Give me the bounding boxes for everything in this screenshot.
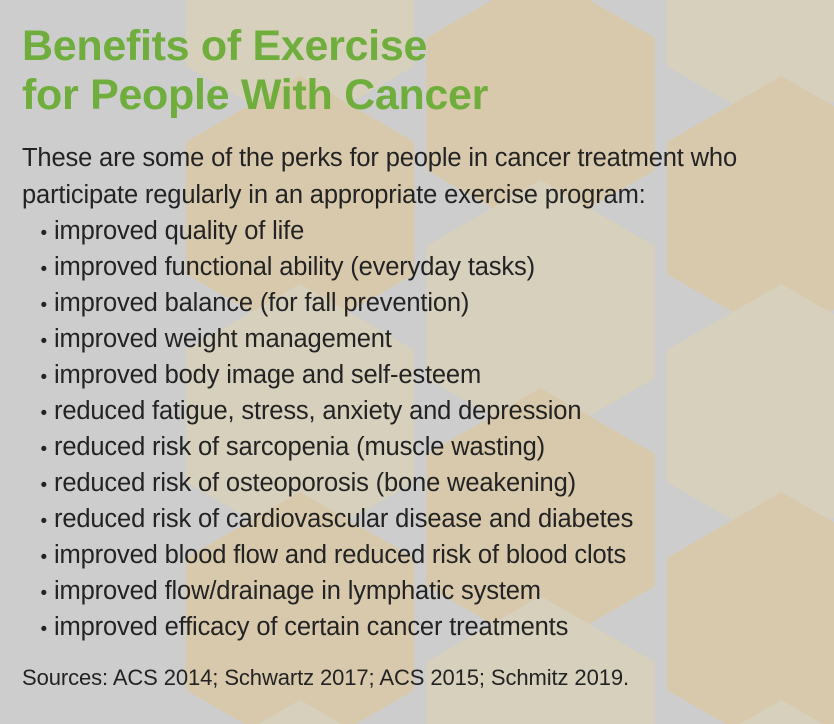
- benefit-item: •improved blood flow and reduced risk of…: [22, 537, 633, 573]
- benefit-item-label: reduced risk of sarcopenia (muscle wasti…: [54, 429, 545, 465]
- benefit-item: •improved quality of life: [22, 213, 633, 249]
- bullet-icon: •: [22, 396, 54, 432]
- benefit-item: •reduced risk of osteoporosis (bone weak…: [22, 465, 633, 501]
- bullet-icon: •: [22, 432, 54, 468]
- benefit-item: •reduced risk of cardiovascular disease …: [22, 501, 633, 537]
- benefit-item: •reduced risk of sarcopenia (muscle wast…: [22, 429, 633, 465]
- bullet-icon: •: [22, 216, 54, 252]
- bullet-icon: •: [22, 576, 54, 612]
- bullet-icon: •: [22, 540, 54, 576]
- bullet-icon: •: [22, 252, 54, 288]
- benefit-item: •improved body image and self-esteem: [22, 357, 633, 393]
- intro-paragraph: These are some of the perks for people i…: [22, 140, 802, 214]
- benefit-item: •improved flow/drainage in lymphatic sys…: [22, 573, 633, 609]
- bullet-icon: •: [22, 288, 54, 324]
- infographic-card: Benefits of Exercise for People With Can…: [0, 0, 834, 724]
- benefit-item-label: improved blood flow and reduced risk of …: [54, 537, 626, 573]
- benefit-item-label: improved efficacy of certain cancer trea…: [54, 609, 568, 645]
- benefit-item-label: improved functional ability (everyday ta…: [54, 249, 535, 285]
- content-layer: Benefits of Exercise for People With Can…: [0, 0, 834, 724]
- benefit-item-label: reduced risk of cardiovascular disease a…: [54, 501, 633, 537]
- bullet-icon: •: [22, 468, 54, 504]
- sources-note: Sources: ACS 2014; Schwartz 2017; ACS 20…: [22, 663, 629, 693]
- benefit-item: •improved functional ability (everyday t…: [22, 249, 633, 285]
- benefit-item-label: reduced risk of osteoporosis (bone weake…: [54, 465, 576, 501]
- benefit-item-label: improved weight management: [54, 321, 392, 357]
- benefit-item-label: improved flow/drainage in lymphatic syst…: [54, 573, 541, 609]
- benefit-item-label: improved balance (for fall prevention): [54, 285, 469, 321]
- bullet-icon: •: [22, 612, 54, 648]
- benefit-item: •improved efficacy of certain cancer tre…: [22, 609, 633, 645]
- benefit-item-label: reduced fatigue, stress, anxiety and dep…: [54, 393, 581, 429]
- benefit-item-label: improved body image and self-esteem: [54, 357, 481, 393]
- benefit-item: •improved weight management: [22, 321, 633, 357]
- page-title: Benefits of Exercise for People With Can…: [22, 22, 488, 120]
- benefit-item-label: improved quality of life: [54, 213, 304, 249]
- benefits-list: •improved quality of life•improved funct…: [22, 213, 633, 645]
- benefit-item: •reduced fatigue, stress, anxiety and de…: [22, 393, 633, 429]
- bullet-icon: •: [22, 504, 54, 540]
- bullet-icon: •: [22, 360, 54, 396]
- bullet-icon: •: [22, 324, 54, 360]
- benefit-item: •improved balance (for fall prevention): [22, 285, 633, 321]
